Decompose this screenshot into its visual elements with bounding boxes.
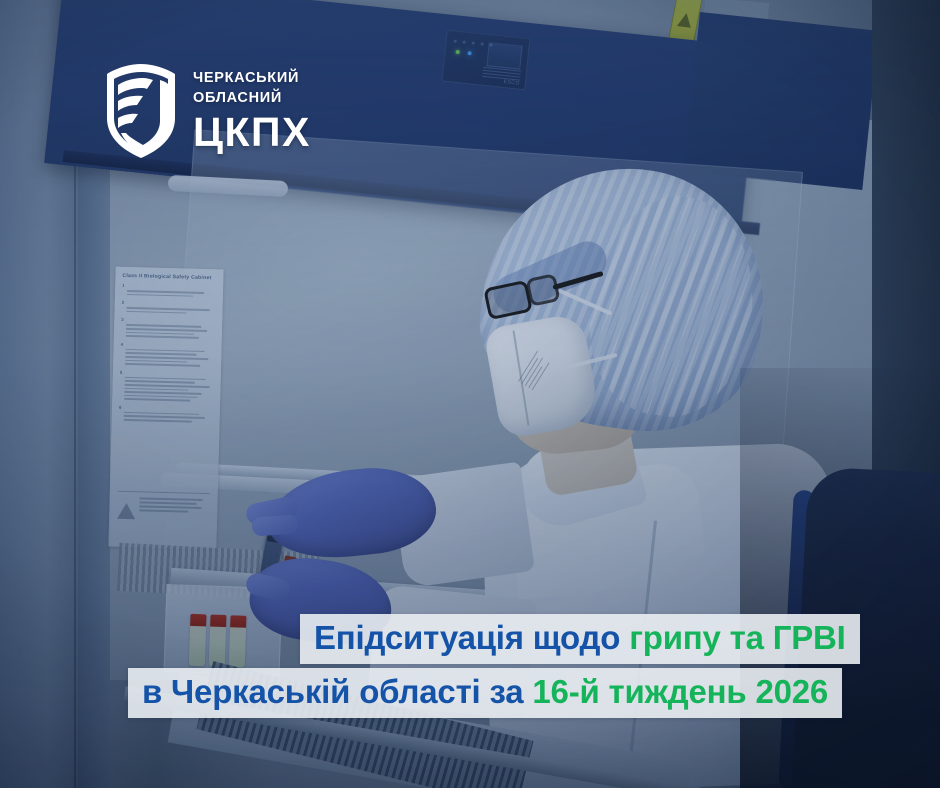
poster-canvas: ESCO Class II Biological Safety Cabinet … bbox=[0, 0, 940, 788]
headline-band-line-2: в Черкаській області за 16-й тиждень 202… bbox=[128, 668, 842, 718]
headline-band-line-1: Епідситуація щодо грипу та ГРВІ bbox=[300, 614, 860, 664]
shield-with-letter-e-icon bbox=[103, 62, 179, 160]
logo-abbreviation: ЦКПХ bbox=[193, 112, 311, 153]
headline-line2-segment-highlight: 16-й тиждень 2026 bbox=[532, 673, 828, 710]
logo-line-2: ОБЛАСНИЙ bbox=[193, 91, 311, 106]
headline-line1-segment-highlight: грипу та ГРВІ bbox=[629, 619, 845, 656]
logo-line-1: ЧЕРКАСЬКИЙ bbox=[193, 71, 311, 86]
organization-logo[interactable]: ЧЕРКАСЬКИЙ ОБЛАСНИЙ ЦКПХ bbox=[103, 62, 311, 160]
headline-line1-segment-plain: Епідситуація щодо bbox=[314, 619, 629, 656]
logo-wordmark: ЧЕРКАСЬКИЙ ОБЛАСНИЙ ЦКПХ bbox=[193, 69, 311, 153]
headline-line2-segment-plain: в Черкаській області за bbox=[142, 673, 532, 710]
